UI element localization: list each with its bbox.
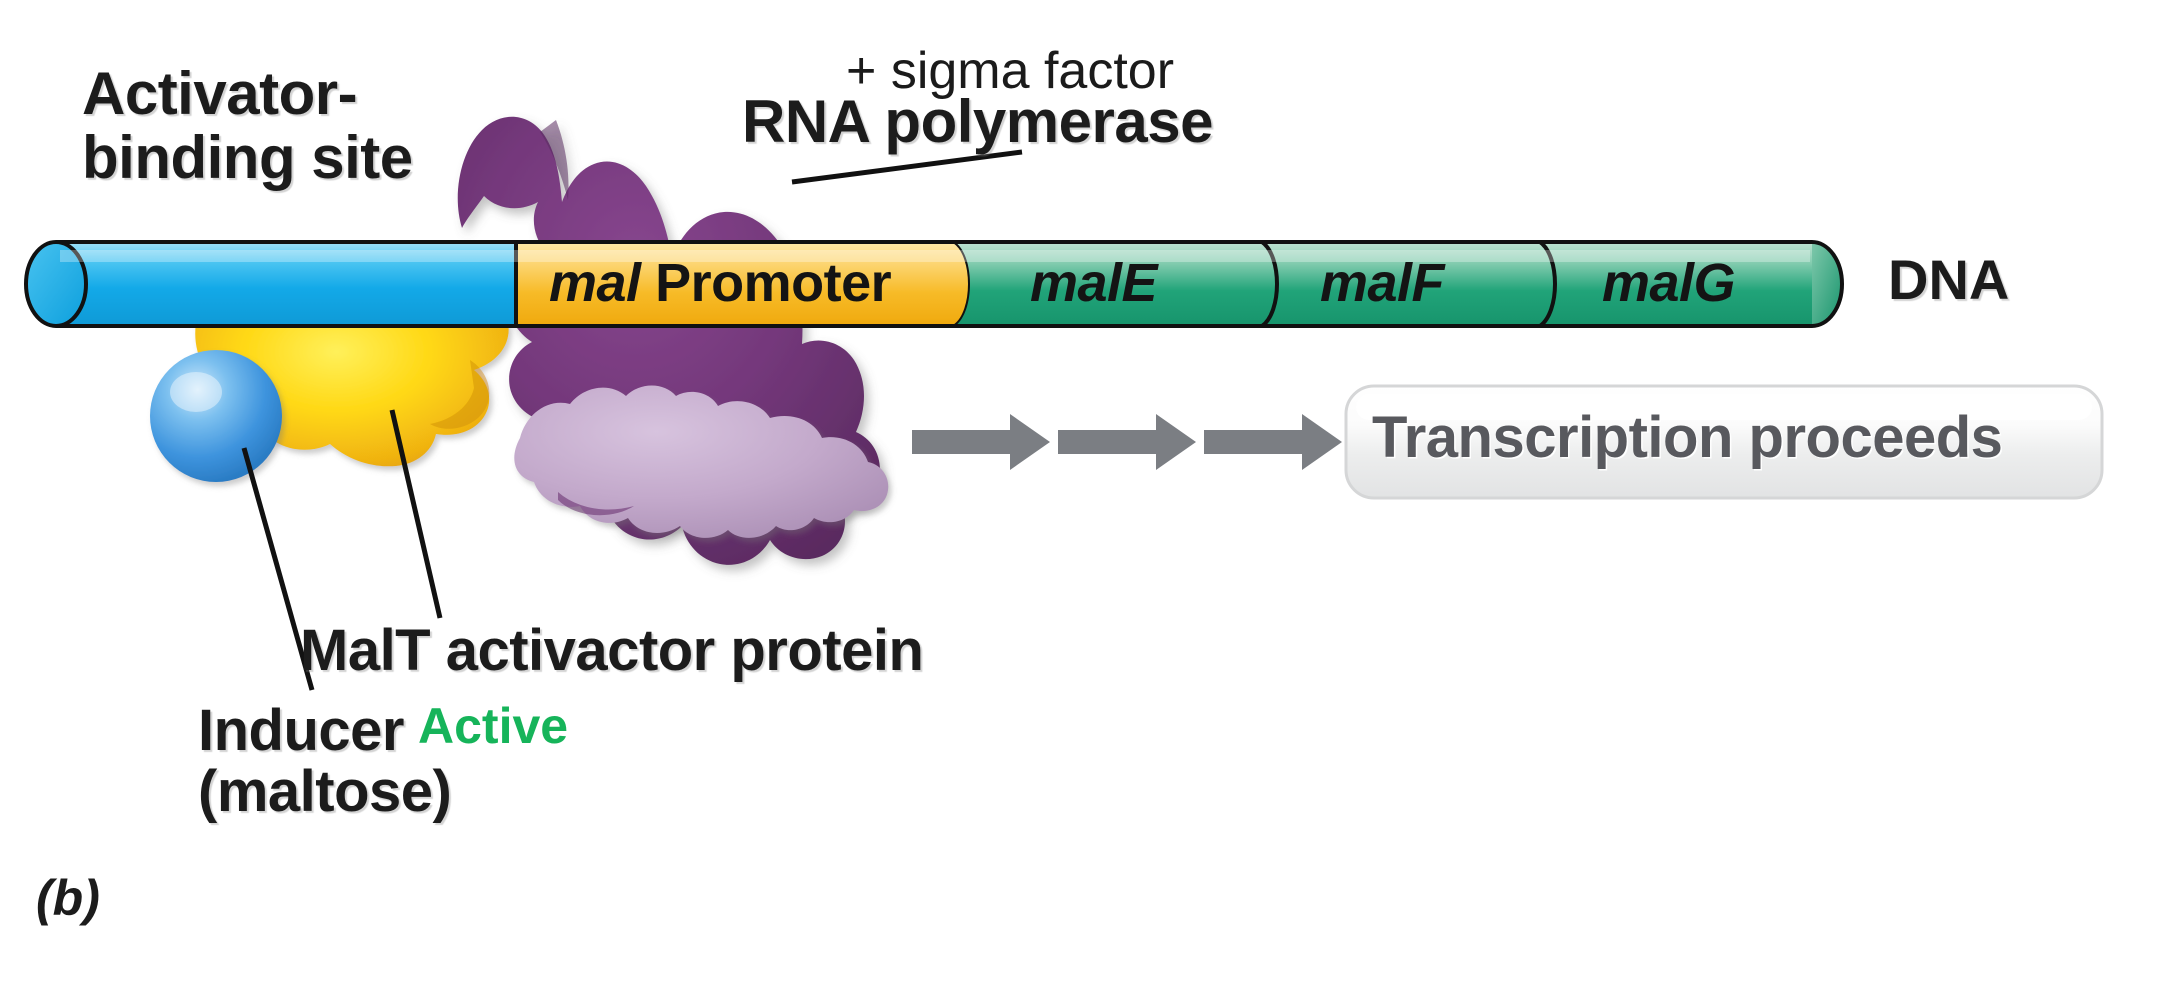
active-state-label: Active <box>418 700 568 753</box>
activator-binding-site-label: Activator-binding site <box>82 62 413 189</box>
dna-bar <box>26 242 1842 326</box>
rna-polymerase-label: RNA polymerase <box>742 90 1213 154</box>
inducer-sphere <box>150 350 282 482</box>
inducer-label-line2: (maltose) <box>198 759 451 824</box>
leader-rna-polymerase <box>792 152 1022 182</box>
gene-label-malE: malE <box>1030 252 1157 314</box>
arrow-1 <box>912 414 1050 470</box>
mal-promoter-italic: mal <box>549 253 641 313</box>
inducer-label: Inducer(maltose) <box>198 700 451 823</box>
transcription-status-text: Transcription proceeds <box>1372 404 2002 471</box>
gene-label-malF: malF <box>1320 252 1444 314</box>
panel-label: (b) <box>36 872 100 925</box>
inducer-label-line1: Inducer <box>198 698 404 763</box>
activator-binding-site-line1: Activator- <box>82 60 357 127</box>
activator-binding-site-line2: binding site <box>82 124 413 191</box>
gene-label-malG: malG <box>1602 252 1735 314</box>
transcription-arrows <box>912 414 1342 470</box>
dna-label: DNA <box>1888 250 2009 309</box>
malt-protein-label: MalT activactor protein <box>300 620 923 681</box>
mal-promoter-label: mal Promoter <box>549 252 891 314</box>
figure-canvas: Activator-binding site + sigma factor RN… <box>0 0 2164 1000</box>
mal-promoter-roman: Promoter <box>641 253 892 313</box>
arrow-2 <box>1058 414 1196 470</box>
arrow-3 <box>1204 414 1342 470</box>
